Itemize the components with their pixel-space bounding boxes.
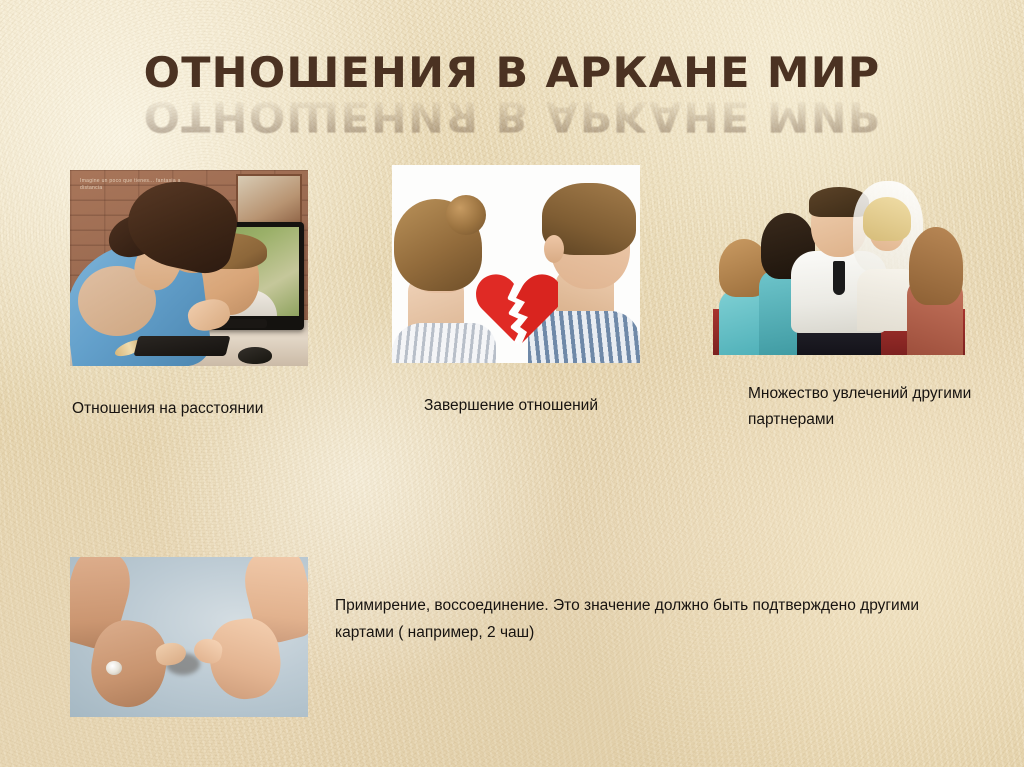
- photo-inset-text: Imagine un poco que tienes... fantasia a…: [80, 178, 190, 192]
- man-tie: [833, 261, 845, 295]
- broken-heart-icon: [474, 269, 558, 345]
- keyboard: [134, 336, 231, 356]
- photo-relationship-ending: [392, 165, 640, 363]
- caption-many-partners: Множество увлечений другими партнерами: [748, 381, 978, 433]
- computer-mouse: [238, 347, 272, 364]
- ring-on-finger: [106, 661, 122, 675]
- body-paragraph: Примирение, воссоединение. Это значение …: [335, 592, 950, 646]
- caption-relationship-ending: Завершение отношений: [424, 393, 624, 419]
- page-title-reflection: ОТНОШЕНИЯ В АРКАНЕ МИР: [0, 95, 1024, 137]
- breakup-man-ear: [544, 235, 564, 263]
- page-title: ОТНОШЕНИЯ В АРКАНЕ МИР: [0, 52, 1024, 94]
- photo-many-partners: [713, 165, 965, 355]
- caption-long-distance: Отношения на расстоянии: [72, 396, 282, 422]
- slide-title-block: ОТНОШЕНИЯ В АРКАНЕ МИР ОТНОШЕНИЯ В АРКАН…: [0, 52, 1024, 137]
- photo-reconciliation-pinky-promise: [70, 557, 308, 717]
- breakup-woman-hair-bun: [446, 195, 486, 235]
- photo-long-distance-relationship: Imagine un poco que tienes... fantasia a…: [70, 170, 308, 366]
- woman-4-auburn-hair: [907, 225, 963, 355]
- slide-canvas: ОТНОШЕНИЯ В АРКАНЕ МИР ОТНОШЕНИЯ В АРКАН…: [0, 0, 1024, 767]
